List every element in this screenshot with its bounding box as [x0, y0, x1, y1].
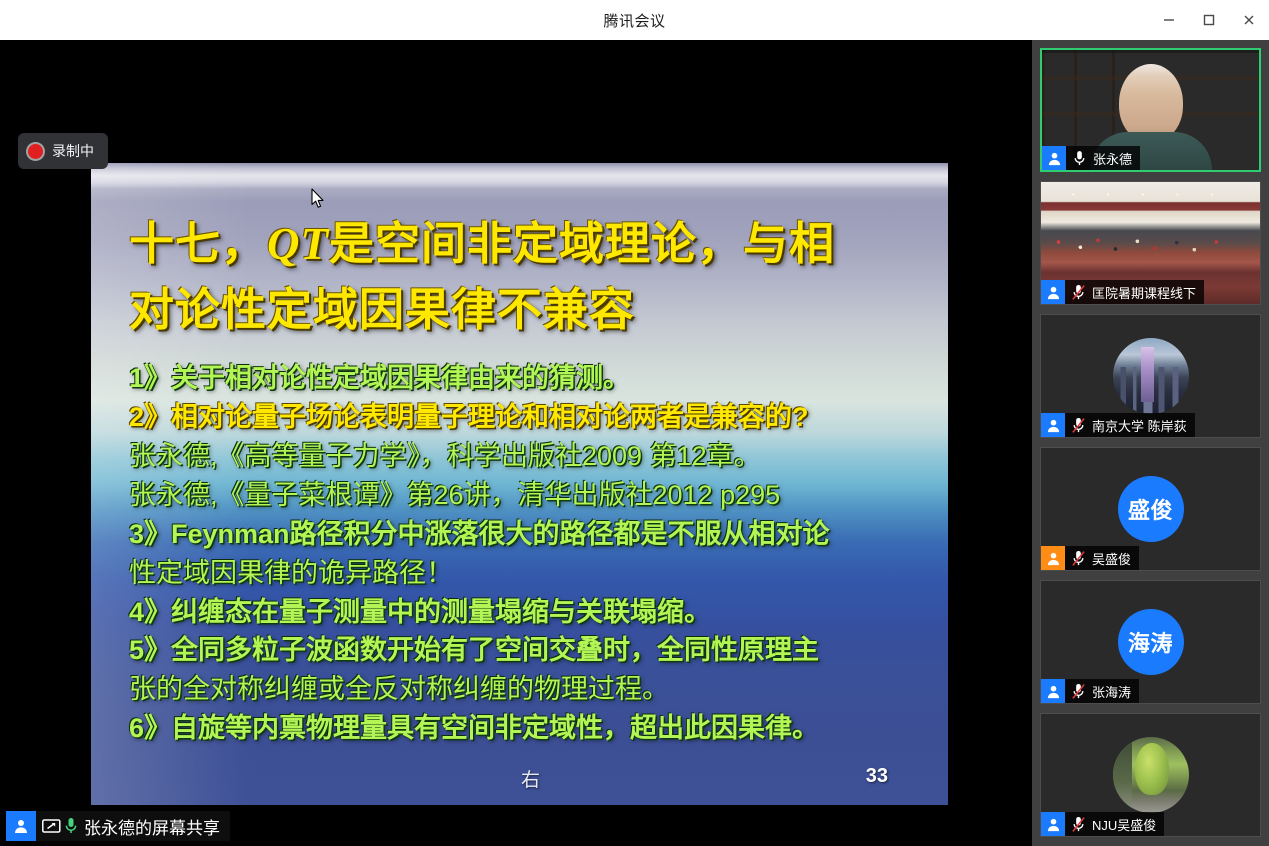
microphone-muted-icon [1067, 812, 1089, 836]
slide-content: 十七，QT是空间非定域理论，与相 对论性定域因果律不兼容 1》关于相对论性定域因… [91, 163, 948, 805]
recording-indicator: 录制中 [18, 133, 108, 169]
participant-badge-icon [1041, 679, 1065, 703]
screen-share-bar: 张永德的屏幕共享 [6, 811, 230, 841]
participant-badge-icon [1041, 812, 1065, 836]
participant-name: 匡院暑期课程线下 [1092, 283, 1196, 302]
participant-host-badge-icon [1041, 546, 1065, 570]
slide-line: 4》纠缠态在量子测量中的测量塌缩与关联塌缩。 [129, 593, 938, 632]
participant-tile[interactable]: 海涛 张海涛 [1040, 580, 1261, 704]
tencent-meeting-window: 腾讯会议 录制中 十七，QT是空间非定域理论， [0, 0, 1269, 846]
participant-name: 吴盛俊 [1092, 549, 1131, 568]
microphone-icon [62, 811, 80, 841]
avatar [1113, 737, 1189, 813]
microphone-muted-icon [1067, 546, 1089, 570]
avatar [1113, 338, 1189, 414]
window-controls [1149, 0, 1269, 40]
recording-label: 录制中 [52, 141, 94, 161]
shared-screen-stage[interactable]: 录制中 十七，QT是空间非定域理论，与相 对论性定域因果律不兼容 1》关于相对论… [0, 40, 1032, 846]
slide-line: 6》自旋等内禀物理量具有空间非定域性，超出此因果律。 [129, 709, 938, 748]
slide-title-part1: 十七， [129, 218, 267, 269]
microphone-muted-icon [1067, 413, 1089, 437]
participant-tile[interactable]: 南京大学 陈岸荻 [1040, 314, 1261, 438]
participant-rail[interactable]: 张永德 [1032, 40, 1269, 846]
microphone-muted-icon [1067, 679, 1089, 703]
slide-line: 1》关于相对论性定域因果律由来的猜测。 [129, 359, 938, 398]
participant-name: 南京大学 陈岸荻 [1092, 416, 1187, 435]
slide-title-part2: 对论性定域因果律不兼容 [129, 284, 635, 335]
avatar: 盛俊 [1118, 476, 1184, 542]
screen-share-icon [40, 811, 62, 841]
participant-namebar: 南京大学 陈岸荻 [1041, 413, 1195, 437]
participant-name: 张海涛 [1092, 682, 1131, 701]
window-title: 腾讯会议 [603, 10, 665, 31]
title-bar: 腾讯会议 [0, 0, 1269, 40]
participant-badge-icon [1041, 280, 1065, 304]
slide-title-part1b: 是空间非定域理论，与相 [329, 218, 835, 269]
participant-namebar: 匡院暑期课程线下 [1041, 280, 1204, 304]
slide-line: 张永德,《量子菜根谭》第26讲，清华出版社2012 p295 [129, 476, 938, 515]
slide-title-qt: QT [267, 219, 329, 269]
slide-line: 性定域因果律的诡异路径！ [129, 554, 938, 593]
participant-tile[interactable]: 张永德 [1040, 48, 1261, 172]
slide-line: 5》全同多粒子波函数开始有了空间交叠时，全同性原理主 [129, 631, 938, 670]
slide-body: 1》关于相对论性定域因果律由来的猜测。 2》相对论量子场论表明量子理论和相对论两… [129, 359, 938, 748]
participant-namebar: NJU吴盛俊 [1041, 812, 1164, 836]
participant-tile[interactable]: 盛俊 吴盛俊 [1040, 447, 1261, 571]
minimize-icon[interactable] [1149, 0, 1189, 40]
slide-line: 3》Feynman路径积分中涨落很大的路径都是不服从相对论 [129, 515, 938, 554]
participant-name: NJU吴盛俊 [1092, 815, 1156, 834]
slide-line: 2》相对论量子场论表明量子理论和相对论两者是兼容的? [129, 398, 938, 437]
avatar: 海涛 [1118, 609, 1184, 675]
slide-page-number: 33 [866, 765, 888, 788]
maximize-icon[interactable] [1189, 0, 1229, 40]
participant-namebar: 张海涛 [1041, 679, 1139, 703]
participant-badge-icon [1042, 146, 1066, 170]
person-head [1119, 64, 1183, 142]
slide-line: 张的全对称纠缠或全反对称纠缠的物理过程。 [129, 670, 938, 709]
slide-footer-note: 右 [521, 765, 540, 792]
close-icon[interactable] [1229, 0, 1269, 40]
record-dot-icon [28, 144, 43, 159]
microphone-muted-icon [1067, 280, 1089, 304]
participant-badge-icon [6, 811, 36, 841]
participant-name: 张永德 [1093, 149, 1132, 168]
participant-tile[interactable]: NJU吴盛俊 [1040, 713, 1261, 837]
slide-line: 张永德,《高等量子力学》，科学出版社2009 第12章。 [129, 437, 938, 476]
presentation-slide: 十七，QT是空间非定域理论，与相 对论性定域因果律不兼容 1》关于相对论性定域因… [91, 163, 948, 805]
participant-tile[interactable]: 匡院暑期课程线下 [1040, 181, 1261, 305]
slide-title: 十七，QT是空间非定域理论，与相 对论性定域因果律不兼容 [129, 211, 938, 343]
microphone-icon [1068, 146, 1090, 170]
participant-badge-icon [1041, 413, 1065, 437]
slide-footer: 右 33 [91, 765, 948, 791]
participant-namebar: 吴盛俊 [1041, 546, 1139, 570]
participant-namebar: 张永德 [1042, 146, 1140, 170]
screen-share-label: 张永德的屏幕共享 [84, 814, 220, 839]
